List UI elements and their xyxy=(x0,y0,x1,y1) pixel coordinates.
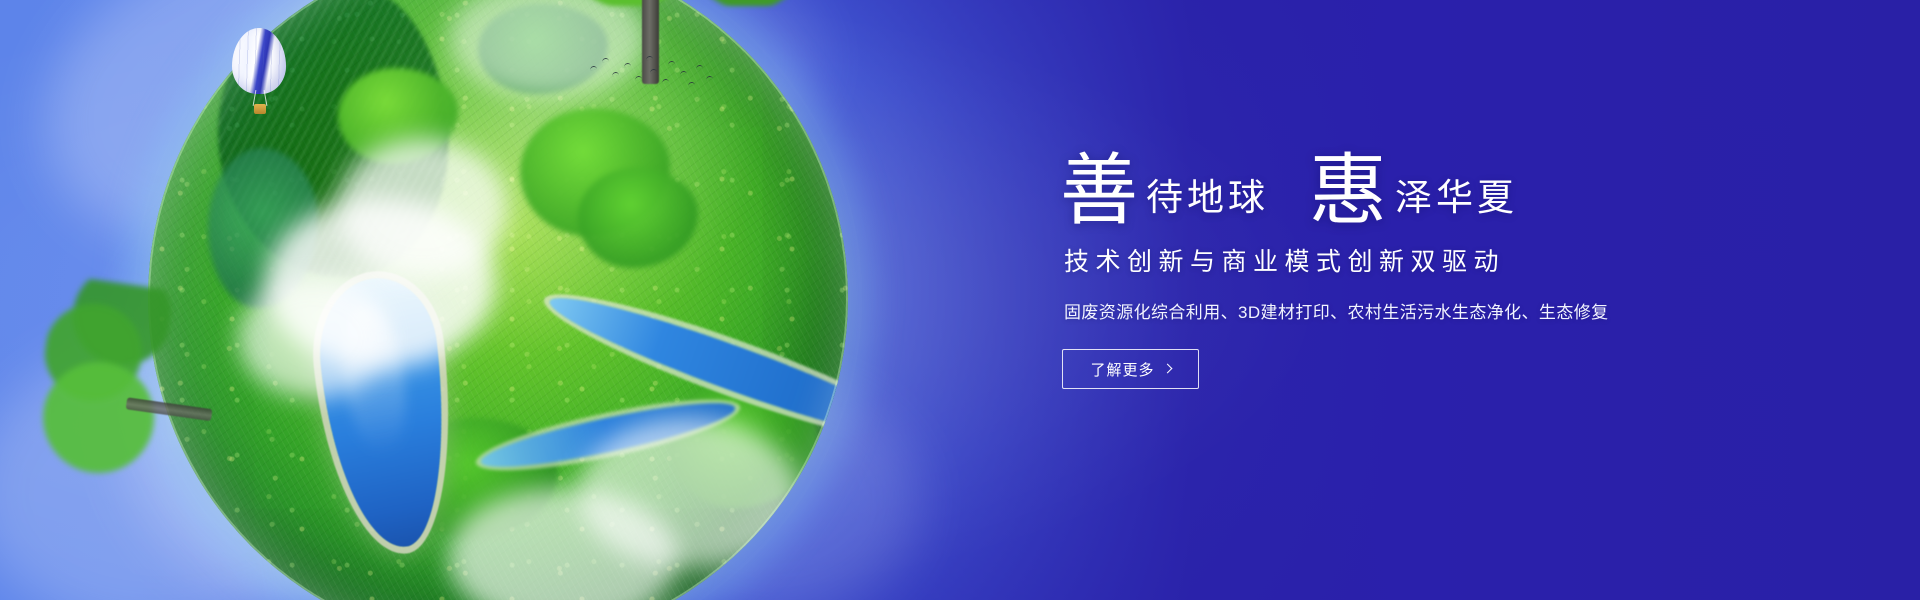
bird-icon xyxy=(696,65,703,70)
bird-icon xyxy=(590,66,597,71)
headline-small-text-2: 泽华夏 xyxy=(1395,179,1518,216)
learn-more-button[interactable]: 了解更多 xyxy=(1062,349,1199,389)
headline-group-1: 善 待地球 xyxy=(1060,152,1269,224)
banner-subtitle: 技术创新与商业模式创新双驱动 xyxy=(1064,242,1760,278)
planet-cloud xyxy=(338,138,508,278)
headline-big-char-2: 惠 xyxy=(1309,156,1387,228)
planet-cloud xyxy=(238,278,388,398)
bird-icon xyxy=(602,58,609,63)
bird-icon xyxy=(662,79,669,84)
page-title: 善 待地球 惠 泽华夏 xyxy=(1060,132,1760,224)
bird-icon xyxy=(706,76,713,81)
bird-icon xyxy=(646,56,653,61)
bird-icon xyxy=(624,63,631,68)
bird-flock-icon xyxy=(588,52,718,96)
bird-icon xyxy=(688,82,695,87)
balloon-basket xyxy=(254,104,266,114)
banner-content: 善 待地球 惠 泽华夏 技术创新与商业模式创新双驱动 固废资源化综合利用、3D建… xyxy=(1060,132,1760,389)
headline-big-char-1: 善 xyxy=(1060,156,1138,228)
headline-group-2: 惠 泽华夏 xyxy=(1309,152,1518,224)
bird-icon xyxy=(612,72,619,77)
banner-description: 固废资源化综合利用、3D建材打印、农村生活污水生态净化、生态修复 xyxy=(1064,298,1760,323)
chevron-right-icon xyxy=(1162,364,1172,374)
hero-banner: 善 待地球 惠 泽华夏 技术创新与商业模式创新双驱动 固废资源化综合利用、3D建… xyxy=(0,0,1920,600)
headline-small-text-1: 待地球 xyxy=(1146,179,1269,216)
balloon-gores xyxy=(232,28,286,94)
bird-icon xyxy=(680,71,687,76)
learn-more-label: 了解更多 xyxy=(1090,359,1154,380)
bird-icon xyxy=(668,61,675,66)
hot-air-balloon-icon xyxy=(232,28,286,120)
bird-icon xyxy=(650,69,657,74)
bird-icon xyxy=(635,76,642,81)
